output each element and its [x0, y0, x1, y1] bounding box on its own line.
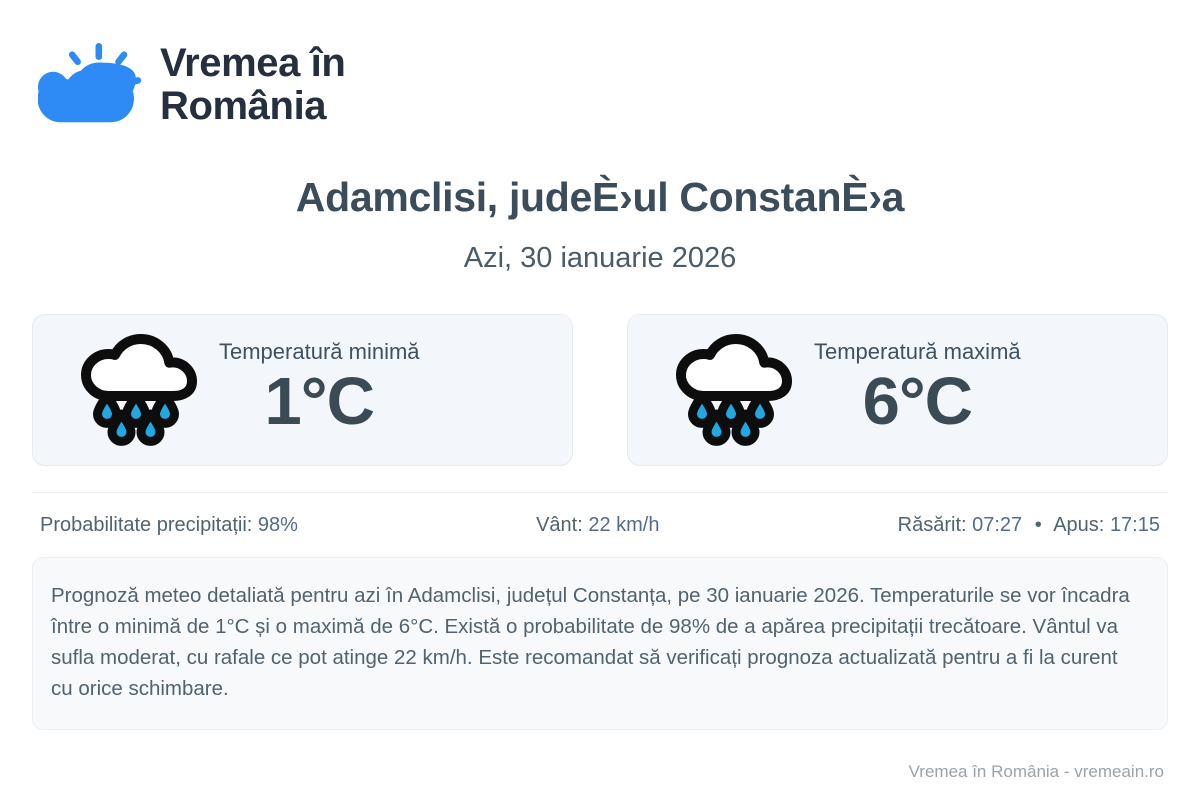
max-temperature-card: Temperatură maximă 6°C [627, 314, 1168, 466]
page-subtitle: Azi, 30 ianuarie 2026 [32, 241, 1168, 276]
forecast-description-box: Prognoză meteo detaliată pentru azi în A… [32, 557, 1168, 730]
precipitation-stat: Probabilitate precipitații: 98% [40, 513, 298, 537]
brand-name: Vremea în România [160, 42, 345, 128]
weather-page: Vremea în România Adamclisi, judeÈ›ul Co… [0, 0, 1200, 800]
min-temperature-label: Temperatură minimă [219, 339, 420, 365]
rain-cloud-icon [670, 334, 792, 446]
sun-stat: Răsărit: 07:27 • Apus: 17:15 [898, 513, 1160, 537]
precipitation-value: 98% [258, 514, 298, 536]
max-temperature-label: Temperatură maximă [814, 339, 1021, 365]
wind-label: Vânt: [536, 514, 583, 536]
sunrise-value: 07:27 [972, 514, 1022, 536]
footer-credit: Vremea în România - vremeain.ro [909, 762, 1164, 782]
sun-separator: • [1028, 514, 1049, 536]
title-block: Adamclisi, judeÈ›ul ConstanÈ›a Azi, 30 i… [32, 174, 1168, 276]
stats-row: Probabilitate precipitații: 98% Vânt: 22… [32, 513, 1168, 537]
precipitation-label: Probabilitate precipitații: [40, 514, 252, 536]
sun-behind-cloud-icon [38, 41, 142, 129]
sunrise-label: Răsărit: [898, 514, 967, 536]
site-header: Vremea în România [32, 0, 1168, 126]
sunset-label: Apus: [1053, 514, 1104, 536]
max-temperature-value: 6°C [863, 367, 972, 437]
temperature-cards: Temperatură minimă 1°C Temperatură maxim… [32, 314, 1168, 466]
forecast-description-text: Prognoză meteo detaliată pentru azi în A… [51, 580, 1143, 705]
min-temperature-info: Temperatură minimă 1°C [219, 339, 420, 442]
sunset-value: 17:15 [1110, 514, 1160, 536]
stats-divider [32, 492, 1168, 493]
min-temperature-card: Temperatură minimă 1°C [32, 314, 573, 466]
wind-stat: Vânt: 22 km/h [298, 513, 898, 537]
min-temperature-value: 1°C [265, 367, 374, 437]
page-title: Adamclisi, judeÈ›ul ConstanÈ›a [32, 174, 1168, 221]
wind-value: 22 km/h [588, 514, 659, 536]
max-temperature-info: Temperatură maximă 6°C [814, 339, 1021, 442]
rain-cloud-icon [75, 334, 197, 446]
